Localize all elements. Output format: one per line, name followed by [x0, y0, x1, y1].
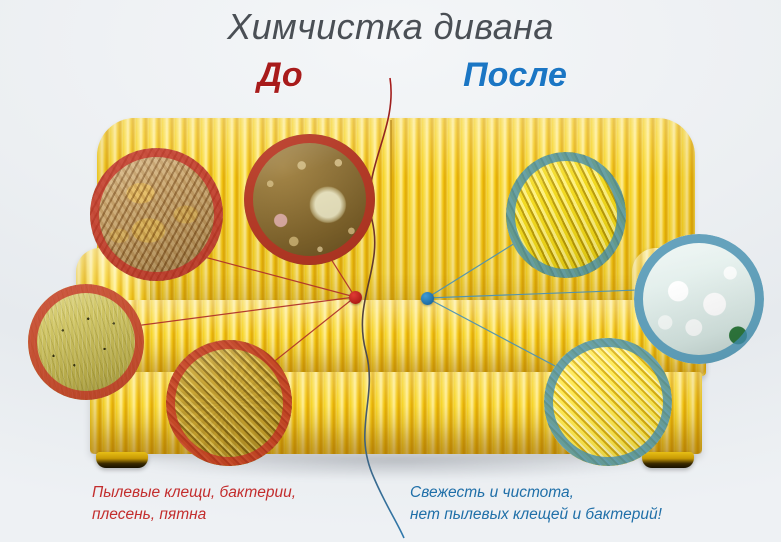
sofa-leg-left [96, 452, 148, 468]
magnifier-dust-mites[interactable] [90, 148, 223, 281]
clean-fabric-texture [544, 338, 672, 466]
blue-hub-dot [421, 292, 434, 305]
dust-mites-texture [90, 148, 223, 281]
magnifier-clean-fabric[interactable] [544, 338, 672, 466]
bacteria-texture [244, 134, 375, 265]
sofa-backrest-seam [390, 120, 392, 310]
infographic-canvas: Химчистка дивана До После Пылевые клещи,… [0, 0, 781, 542]
magnifier-mold[interactable] [28, 284, 144, 400]
mold-texture [28, 284, 144, 400]
before-label: До [200, 56, 360, 95]
page-title: Химчистка дивана [0, 6, 781, 47]
caption-before-line2: плесень, пятна [92, 504, 296, 526]
caption-after: Свежесть и чистота, нет пылевых клещей и… [410, 482, 662, 527]
caption-after-line2: нет пылевых клещей и бактерий! [410, 504, 662, 526]
caption-after-line1: Свежесть и чистота, [410, 482, 662, 504]
after-label: После [420, 56, 610, 95]
magnifier-clean-fibers[interactable] [506, 152, 626, 278]
magnifier-dirty-fabric[interactable] [166, 340, 292, 466]
dirty-fabric-texture [166, 340, 292, 466]
caption-before: Пылевые клещи, бактерии, плесень, пятна [92, 482, 296, 527]
magnifier-bacteria[interactable] [244, 134, 375, 265]
caption-before-line1: Пылевые клещи, бактерии, [92, 482, 296, 504]
clean-fibers-texture [506, 152, 626, 278]
red-hub-dot [349, 291, 362, 304]
